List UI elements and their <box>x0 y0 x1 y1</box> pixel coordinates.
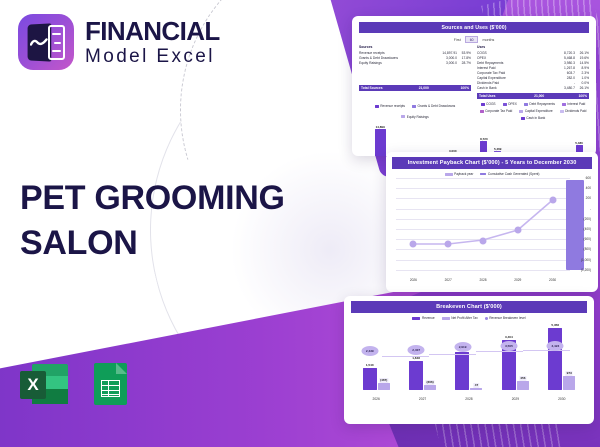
brand-name-secondary: Model Excel <box>85 47 220 66</box>
page-title: PET GROOMINGSALON <box>20 176 285 266</box>
sources-uses-bar-chart: 14,899 3,000 3,000 8,720 5,469 3,980 1,2… <box>359 122 589 156</box>
bar-group: 2,459 47 2,919 <box>449 323 489 390</box>
chart-group-sources: 14,899 3,000 3,000 <box>362 122 471 156</box>
bar-value: (467) <box>379 378 388 383</box>
legend-uses: COGS OPEX Debt Repayments Interest Paid … <box>477 102 589 120</box>
legend-payback: Payback year Cumulative Cash Generated (… <box>392 172 592 176</box>
sources-total-row: Total Sources 21,000 100% <box>359 85 471 91</box>
sources-uses-table: Sources Revenue receipts 14,897.91 53.9%… <box>359 45 589 99</box>
npat-bar: 973 <box>563 376 575 390</box>
uses-column: Uses COGS 8,720.3 26.1% OPEX 5,468.8 19.… <box>477 45 589 99</box>
table-row: Cash in Bank 3,480.7 26.1% <box>477 86 589 91</box>
breakeven-level-marker: 2,439 <box>361 346 378 356</box>
bar-value: 456 <box>519 376 526 381</box>
card-title: Breakeven Chart ($'000) <box>351 301 587 313</box>
revenue-bar: 2,459 <box>455 352 469 390</box>
poster-canvas: FINANCIAL Model Excel PET GROOMINGSALON … <box>0 0 600 447</box>
bar-value: 5,469 <box>494 147 502 151</box>
bar-value: 8,720 <box>480 137 488 141</box>
brand-name-primary: FINANCIAL <box>85 18 220 44</box>
period-label-left: First <box>454 38 461 42</box>
chart-group-uses: 8,720 5,469 3,980 1,268 604 282 - 5,480 <box>477 122 586 156</box>
npat-bar: 47 <box>470 388 482 390</box>
uses-total-row: Total Uses 21,000 100% <box>477 93 589 99</box>
breakeven-chart-plot: 1,540 (467) 2,439 1,848 (306) 2,407 <box>351 323 587 401</box>
brand-lockup: FINANCIAL Model Excel <box>18 14 220 70</box>
chart-document-icon <box>18 14 74 70</box>
google-sheets-icon[interactable] <box>86 360 134 408</box>
card-title: Sources and Uses ($'000) <box>359 22 589 33</box>
bar-value: 5,480 <box>575 141 583 145</box>
bar-value: 47 <box>474 383 479 388</box>
x-axis-labels: 2026 2027 2028 2029 2030 <box>353 397 585 401</box>
revenue-bar: 1,540 <box>363 368 377 390</box>
format-icons: X <box>20 360 134 408</box>
card-sources-and-uses: Sources and Uses ($'000) First 60 months… <box>352 16 596 156</box>
sources-column: Sources Revenue receipts 14,897.91 53.9%… <box>359 45 471 99</box>
breakeven-level-marker: 3,505 <box>500 341 517 351</box>
period-controls[interactable]: First 60 months <box>359 36 589 43</box>
uses-heading: Uses <box>477 45 589 49</box>
revenue-bar: 1,848 <box>409 361 423 390</box>
period-value[interactable]: 60 <box>465 36 479 43</box>
bar-value: 14,899 <box>376 125 385 129</box>
npat-bar: 456 <box>517 381 529 390</box>
period-label-right: months <box>482 38 494 42</box>
bar-group: 3,404 456 3,505 <box>495 323 535 390</box>
bar-value: 973 <box>566 371 573 376</box>
cumulative-cash-line <box>396 178 570 270</box>
payback-chart-plot: 600 400 200 - (200) (400) (600) (800) (1… <box>392 178 592 282</box>
table-row: Equity Raisings 3,000.0 28.7% <box>359 61 471 66</box>
npat-bar: (467) <box>378 383 390 390</box>
legend-sources: Revenue receipts Grants & Debt Drawdowns… <box>359 102 471 120</box>
breakeven-level-marker: 2,407 <box>408 345 425 355</box>
document-lines-icon <box>48 25 65 60</box>
card-breakeven: Breakeven Chart ($'000) Revenue Net Prof… <box>344 296 594 424</box>
card-investment-payback: Investment Payback Chart ($'000) - 5 Yea… <box>386 152 598 292</box>
y-axis-labels: 600 400 200 - (200) (400) (600) (800) (1… <box>570 178 592 270</box>
sources-heading: Sources <box>359 45 471 49</box>
excel-letter: X <box>20 371 46 399</box>
bar-value: 1,540 <box>366 363 374 367</box>
bar-value: 3,404 <box>505 335 513 339</box>
x-axis-labels: 2026 2027 2028 2029 2030 <box>396 278 570 282</box>
bar-value: (306) <box>425 380 434 385</box>
revenue-bar: 5,356 <box>548 328 562 390</box>
npat-bar: (306) <box>424 385 436 390</box>
legend-breakeven: Revenue Net Profit After Tax Revenue Bre… <box>351 316 587 320</box>
breakeven-level-marker: 2,919 <box>454 342 471 352</box>
sparkline-icon <box>30 38 48 47</box>
bar-group: 5,356 973 3,423 <box>542 323 582 390</box>
microsoft-excel-icon[interactable]: X <box>20 360 68 408</box>
card-title: Investment Payback Chart ($'000) - 5 Yea… <box>392 157 592 169</box>
breakeven-level-marker: 3,423 <box>547 341 564 351</box>
bar-value: 5,356 <box>551 323 559 327</box>
